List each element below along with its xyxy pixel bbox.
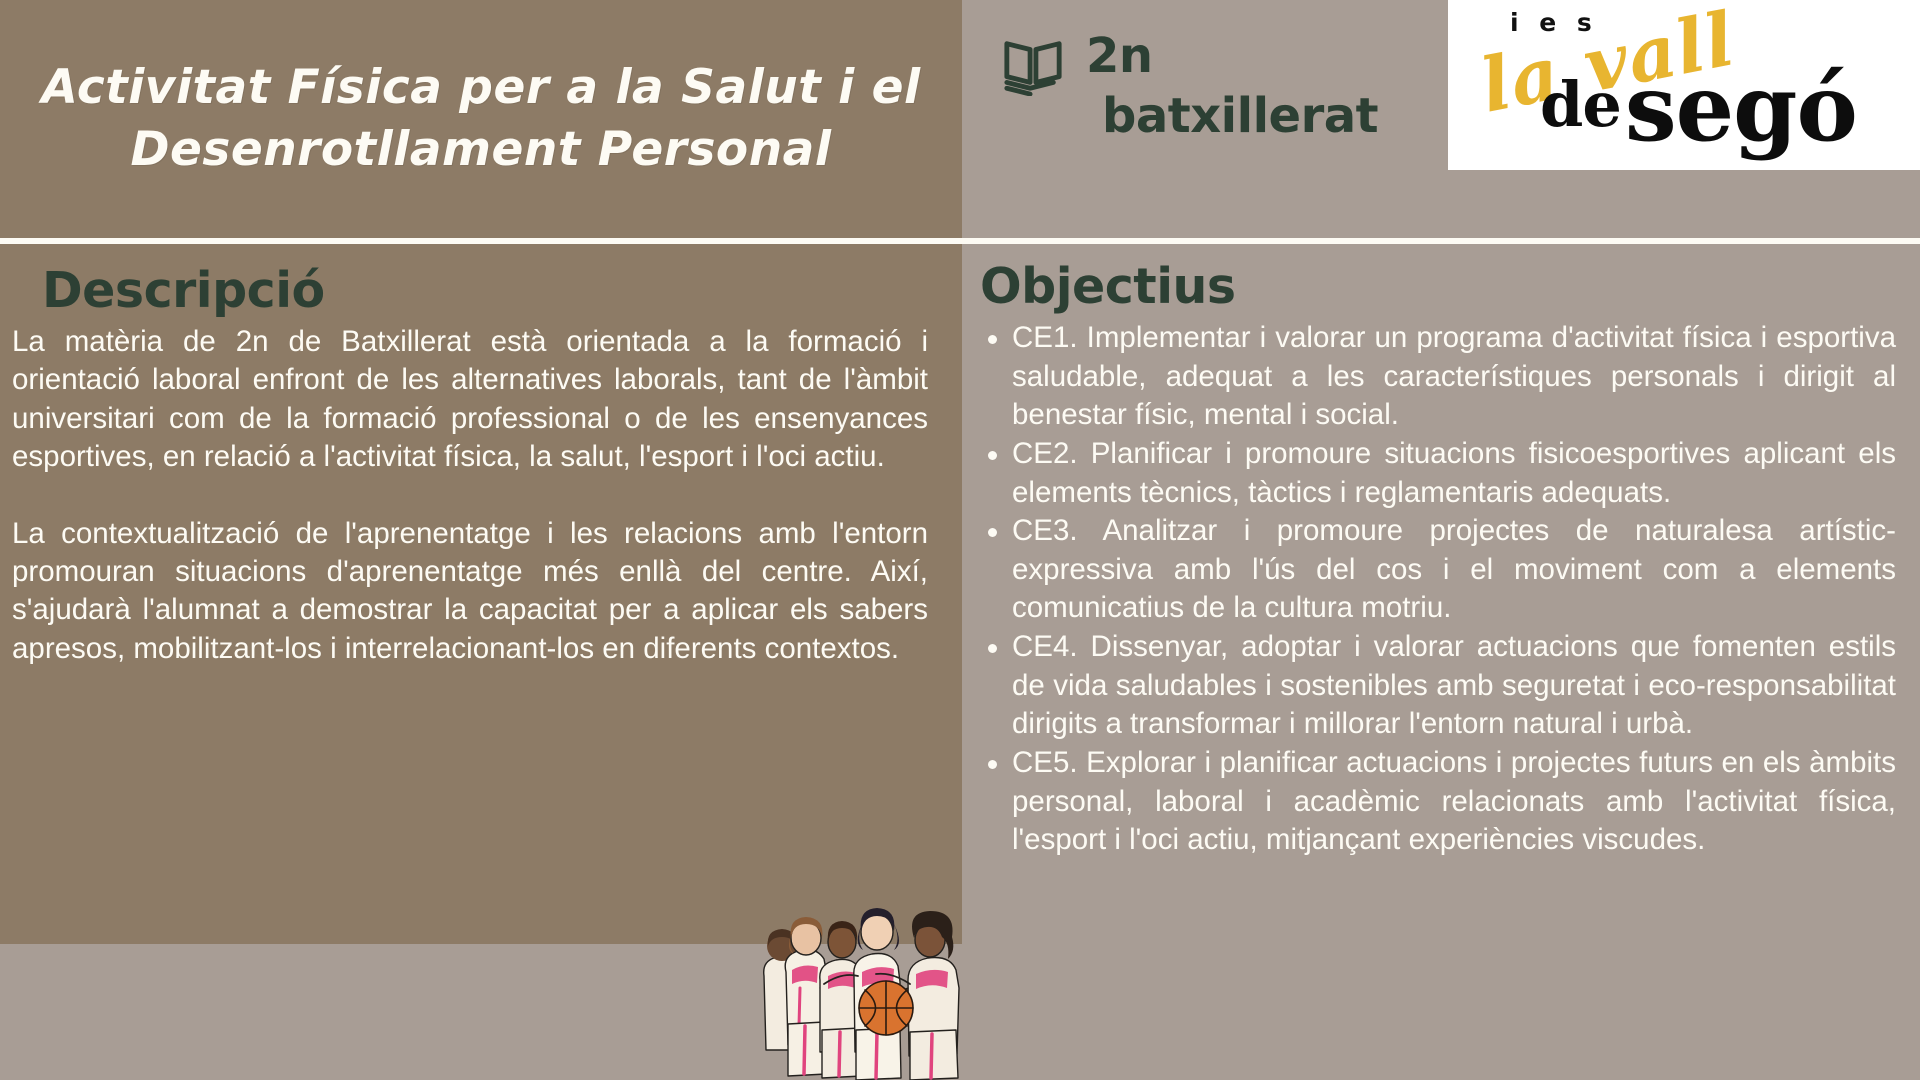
basketball-team-huddle-illustration [758,884,982,1080]
title-panel: Activitat Física per a la Salut i el Des… [0,0,962,238]
objectives-heading: Objectius [980,258,1896,315]
level-line-2: batxillerat [1086,86,1378,146]
level-badge: 2n batxillerat [1002,26,1378,146]
header: Activitat Física per a la Salut i el Des… [0,0,1920,238]
list-item: CE2. Planificar i promoure situacions fi… [980,435,1896,512]
header-right-panel: 2n batxillerat i e s la vall desegó [962,0,1920,238]
poster-canvas: Activitat Física per a la Salut i el Des… [0,0,1920,1080]
description-heading: Descripció [12,262,928,319]
school-logo: i e s la vall desegó [1448,0,1920,170]
list-item: CE5. Explorar i planificar actuacions i … [980,744,1896,860]
open-book-icon [1002,34,1064,101]
level-line-1: 2n [1086,28,1153,84]
description-panel: Descripció La matèria de 2n de Batxiller… [0,244,962,944]
page-title: Activitat Física per a la Salut i el Des… [30,57,932,181]
description-paragraph-1: La matèria de 2n de Batxillerat està ori… [12,323,928,476]
logo-sego-text: segó [1625,54,1857,162]
list-item: CE3. Analitzar i promoure projectes de n… [980,512,1896,628]
description-paragraph-2: La contextualització de l'aprenentatge i… [12,515,928,668]
objectives-list: CE1. Implementar i valorar un programa d… [980,319,1896,860]
list-item: CE1. Implementar i valorar un programa d… [980,319,1896,435]
level-label: 2n batxillerat [1086,26,1378,146]
list-item: CE4. Dissenyar, adoptar i valorar actuac… [980,628,1896,744]
objectives-panel: Objectius CE1. Implementar i valorar un … [968,244,1920,1080]
logo-name-text: desegó [1540,54,1857,162]
logo-de-text: de [1540,68,1621,141]
